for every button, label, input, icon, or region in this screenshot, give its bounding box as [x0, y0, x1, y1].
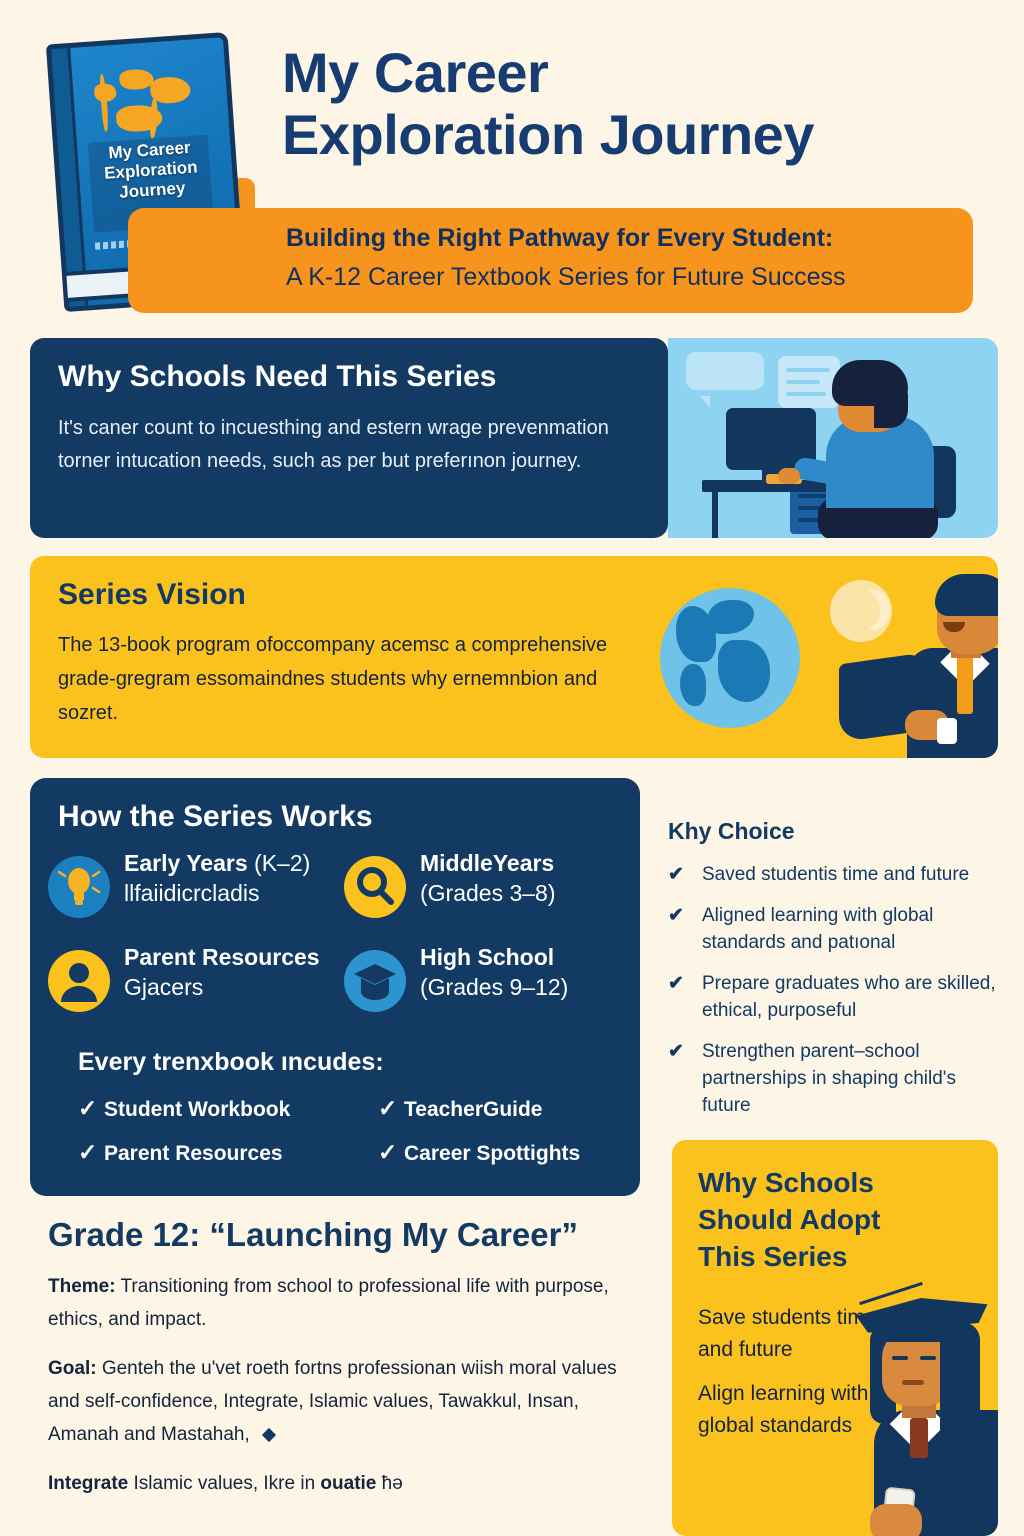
stage-range: (K–2) [254, 850, 310, 876]
person-hand [778, 468, 800, 484]
reader-tie [957, 656, 973, 714]
graduate-tie [910, 1418, 928, 1458]
goal-text: Genteh the u'vet roeth fortns profession… [48, 1358, 617, 1445]
stage-sub: Gjacers [124, 972, 344, 1002]
list-item: ✓Student Workbook [78, 1095, 290, 1122]
graduate-eye-right [920, 1356, 936, 1360]
stage-title: High School [420, 944, 554, 970]
graduate-mouth [902, 1380, 924, 1385]
reader-cuff [937, 718, 957, 744]
every-textbook-includes-heading: Every trenxbook ıncudes: [78, 1048, 618, 1077]
student-at-computer-illustration [668, 338, 998, 538]
series-vision-panel: Series Vision The 13-book program ofocco… [30, 556, 998, 758]
subtitle-line-1: Building the Right Pathway for Every Stu… [286, 224, 833, 253]
stage-sub: (Grades 3–8) [420, 878, 640, 908]
theme-text: Transitioning from school to professiona… [48, 1276, 609, 1330]
why-choice-block: Khy Choice ✔ Saved studentis time and fu… [668, 818, 1008, 1128]
why-choice-label: Strengthen parent–school partnerships in… [702, 1041, 956, 1116]
graduation-cap-icon [344, 950, 406, 1012]
grade-12-goal: Goal: Genteh the u'vet roeth fortns prof… [48, 1352, 648, 1451]
speech-bubble-icon [686, 352, 764, 390]
graduate-eye-left [892, 1356, 908, 1360]
grade-12-heading: Grade 12: “Launching My Career” [48, 1216, 648, 1254]
subtitle-line-2: A K-12 Career Textbook Series for Future… [286, 263, 846, 292]
list-item: ✓TeacherGuide [378, 1095, 543, 1122]
stage-tile-text: Parent Resources Gjacers [124, 942, 344, 1002]
graduation-cap-band [876, 1320, 960, 1342]
check-icon: ✓ [78, 1139, 104, 1166]
desk-leg [712, 492, 718, 538]
list-item: ✔ Aligned learning with global standards… [668, 902, 1008, 956]
stage-tile-early-years[interactable]: Early Years (K–2) llfaiidicrcladis [48, 848, 338, 936]
reading-man-illustration [885, 570, 998, 758]
stage-tile-text: MiddleYears (Grades 3–8) [420, 848, 640, 908]
grade-12-integrate: Integrate Islamic values, Ikre in ouatie… [48, 1467, 648, 1500]
magnifier-icon [344, 856, 406, 918]
every-textbook-includes-block: Every trenxbook ıncudes: ✓Student Workbo… [78, 1048, 618, 1191]
integrate-label: Integrate [48, 1473, 128, 1494]
integrate-tail: ħə [376, 1473, 402, 1494]
subtitle-ribbon: Building the Right Pathway for Every Stu… [128, 208, 973, 313]
infographic-page: My Career Exploration Journey My Career … [0, 0, 1024, 1536]
goal-label: Goal: [48, 1358, 97, 1379]
why-choice-label: Aligned learning with global standards a… [702, 905, 933, 953]
book-cover-title: My Career Exploration Journey [88, 136, 214, 204]
stage-tile-high-school[interactable]: High School (Grades 9–12) [344, 942, 634, 1030]
page-title: My Career Exploration Journey [282, 42, 982, 166]
adopt-heading: Why Schools Should Adopt This Series [698, 1164, 928, 1275]
stage-title: MiddleYears [420, 850, 554, 876]
stage-tile-middle-years[interactable]: MiddleYears (Grades 3–8) [344, 848, 634, 936]
check-icon: ✔ [668, 861, 684, 888]
list-item: ✔ Prepare graduates who are skilled, eth… [668, 970, 1008, 1024]
page-title-line-1: My Career [282, 42, 982, 104]
graduate-hand [870, 1504, 922, 1536]
reader-hair [935, 574, 998, 616]
list-item: ✔ Strengthen parent–school partnerships … [668, 1038, 1008, 1119]
text-bubble-icon [778, 356, 840, 408]
why-schools-need-body: It's caner count to incuesthing and este… [58, 412, 638, 478]
list-item: ✓Career Spottights [378, 1139, 580, 1166]
why-schools-should-adopt-panel: Why Schools Should Adopt This Series Sav… [672, 1140, 998, 1536]
lightbulb-icon [48, 856, 110, 918]
check-icon: ✔ [668, 970, 684, 997]
check-icon: ✔ [668, 902, 684, 929]
how-the-series-works-panel: How the Series Works Early Years (K–2) l… [30, 778, 640, 1196]
list-item: ✔ Saved studentis time and future [668, 861, 1008, 888]
globe-icon [660, 588, 800, 728]
integrate-text: Islamic values, Ikre in [128, 1473, 320, 1494]
check-icon: ✓ [378, 1095, 404, 1122]
stage-sub: (Grades 9–12) [420, 972, 640, 1002]
moon-icon [830, 580, 892, 642]
stage-title: Parent Resources [124, 944, 320, 970]
check-icon: ✓ [78, 1095, 104, 1122]
stage-tile-text: High School (Grades 9–12) [420, 942, 640, 1002]
grade-12-theme: Theme: Transitioning from school to prof… [48, 1270, 648, 1336]
series-vision-heading: Series Vision [58, 578, 246, 612]
stage-tile-parent-resources[interactable]: Parent Resources Gjacers [48, 942, 338, 1030]
why-choice-label: Prepare graduates who are skilled, ethic… [702, 973, 996, 1021]
include-label: Student Workbook [104, 1098, 290, 1121]
include-label: Career Spottights [404, 1142, 580, 1165]
how-the-series-works-heading: How the Series Works [58, 800, 373, 834]
person-hair-back [874, 378, 908, 428]
diamond-bullet-icon [262, 1428, 276, 1442]
include-label: TeacherGuide [404, 1098, 543, 1121]
stage-tile-text: Early Years (K–2) llfaiidicrcladis [124, 848, 344, 908]
series-vision-body: The 13-book program ofoccompany acemsc a… [58, 628, 628, 730]
user-icon [48, 950, 110, 1012]
include-label: Parent Resources [104, 1142, 283, 1165]
graduate-illustration [840, 1292, 998, 1536]
stage-title: Early Years [124, 850, 248, 876]
grade-12-block: Grade 12: “Launching My Career” Theme: T… [48, 1216, 648, 1500]
why-choice-heading: Khy Choice [668, 818, 1008, 845]
list-item: ✓Parent Resources [78, 1139, 283, 1166]
why-choice-label: Saved studentis time and future [702, 864, 969, 885]
stage-sub: llfaiidicrcladis [124, 878, 344, 908]
why-choice-list: ✔ Saved studentis time and future ✔ Alig… [668, 861, 1008, 1119]
check-icon: ✔ [668, 1038, 684, 1065]
page-title-line-2: Exploration Journey [282, 104, 982, 166]
integrate-bold: ouatie [320, 1473, 376, 1494]
includes-list: ✓Student Workbook ✓TeacherGuide ✓Parent … [78, 1095, 618, 1191]
header: My Career Exploration Journey My Career … [0, 0, 1024, 330]
check-icon: ✓ [378, 1139, 404, 1166]
why-schools-need-panel: Why Schools Need This Series It's caner … [30, 338, 668, 538]
why-schools-need-heading: Why Schools Need This Series [58, 360, 496, 394]
theme-label: Theme: [48, 1276, 116, 1297]
